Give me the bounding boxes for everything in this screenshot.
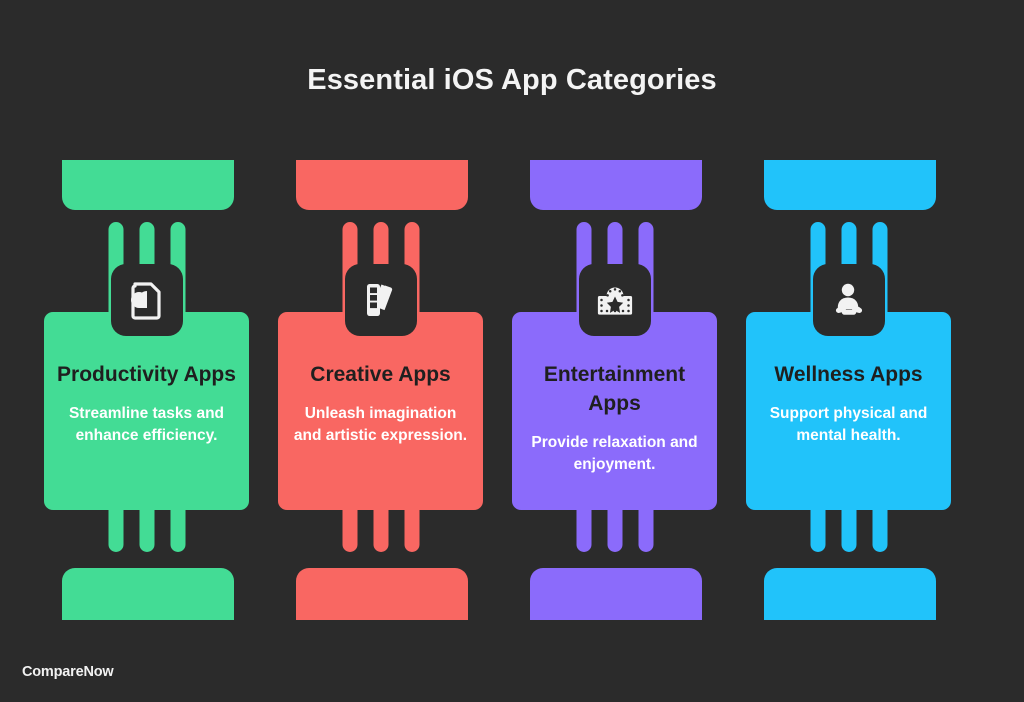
bottom-cap-bar [764, 568, 936, 620]
watermark-text: CompareNow [22, 664, 113, 680]
connector-strip [170, 510, 185, 552]
connector-strip [810, 510, 825, 552]
category-icon-badge [111, 264, 183, 336]
bottom-cap-bar [296, 568, 468, 620]
connector-strips-bottom [108, 510, 185, 552]
marquee-star-icon [593, 278, 637, 322]
connector-strip [576, 510, 591, 552]
connector-strip [373, 510, 388, 552]
category-description: Support physical and mental health. [758, 403, 939, 447]
connector-strip [108, 510, 123, 552]
category-description: Provide relaxation and enjoyment. [524, 432, 705, 476]
category-icon-badge [813, 264, 885, 336]
category-card[interactable]: Productivity Apps Streamline tasks and e… [44, 312, 249, 510]
connector-strip [139, 510, 154, 552]
category-icon-badge [345, 264, 417, 336]
category-card[interactable]: Wellness Apps Support physical and menta… [746, 312, 951, 510]
connector-strips-bottom [576, 510, 653, 552]
category-icon-badge [579, 264, 651, 336]
category-description: Unleash imagination and artistic express… [290, 403, 471, 447]
top-cap-bar [62, 160, 234, 210]
connector-strip [342, 510, 357, 552]
color-swatches-icon [359, 278, 403, 322]
connector-strip [872, 510, 887, 552]
connector-strip [841, 510, 856, 552]
document-chart-icon [125, 278, 169, 322]
category-column-entertainment[interactable]: Entertainment Apps Provide relaxation an… [512, 160, 717, 620]
watermark-logo: CompareNow [22, 664, 113, 680]
meditating-person-icon [827, 278, 871, 322]
bottom-cap-bar [62, 568, 234, 620]
category-title: Creative Apps [310, 360, 450, 389]
category-card[interactable]: Entertainment Apps Provide relaxation an… [512, 312, 717, 510]
category-column-wellness[interactable]: Wellness Apps Support physical and menta… [746, 160, 951, 620]
category-column-creative[interactable]: Creative Apps Unleash imagination and ar… [278, 160, 483, 620]
category-card[interactable]: Creative Apps Unleash imagination and ar… [278, 312, 483, 510]
connector-strip [607, 510, 622, 552]
connector-strips-bottom [810, 510, 887, 552]
category-description: Streamline tasks and enhance efficiency. [56, 403, 237, 447]
page-title: Essential iOS App Categories [0, 60, 1024, 100]
category-title: Entertainment Apps [525, 360, 705, 418]
category-title: Productivity Apps [57, 360, 236, 389]
category-column-productivity[interactable]: Productivity Apps Streamline tasks and e… [44, 160, 249, 620]
infographic-canvas: Essential iOS App Categories Productivit… [0, 0, 1024, 702]
bottom-cap-bar [530, 568, 702, 620]
top-cap-bar [296, 160, 468, 210]
top-cap-bar [764, 160, 936, 210]
connector-strip [638, 510, 653, 552]
category-title: Wellness Apps [774, 360, 922, 389]
connector-strips-bottom [342, 510, 419, 552]
category-columns: Productivity Apps Streamline tasks and e… [44, 160, 984, 620]
top-cap-bar [530, 160, 702, 210]
connector-strip [404, 510, 419, 552]
